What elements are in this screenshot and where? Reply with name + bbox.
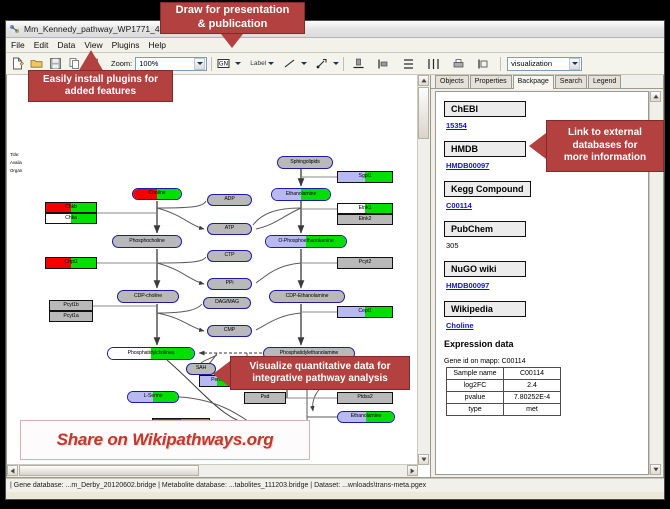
page-icon[interactable]: [476, 56, 491, 71]
label-dropdown-text: Label: [250, 60, 266, 67]
metabolite-node-o-phosphoethanolamine[interactable]: O-Phosphoethanolamine: [265, 235, 347, 248]
pathway-availability-label: Availa: [10, 160, 22, 165]
expression-data-table: Sample name C00114 log2FC 2.4 pvalue 7.8…: [446, 367, 561, 416]
node-label: Psd: [261, 395, 270, 400]
metabolite-node-ppi[interactable]: PPi: [207, 278, 252, 290]
visualization-combo[interactable]: visualization: [507, 57, 582, 71]
gene-node-ptdss2[interactable]: Ptdss2: [337, 392, 393, 404]
expression-data-title: Expression data: [444, 339, 648, 349]
menu-item-data[interactable]: Data: [57, 40, 75, 50]
backpage-value-pubchem: 305: [446, 241, 648, 250]
cell-label-pvalue: pvalue: [447, 392, 504, 404]
callout-link-arrow: [529, 133, 546, 159]
node-label: L-Serine: [144, 394, 163, 399]
tab-properties[interactable]: Properties: [470, 75, 512, 88]
callout-plugins-line1: Easily install plugins for: [43, 74, 158, 87]
datanode-icon[interactable]: GN: [216, 56, 231, 71]
node-label: Phosphatidylcholines: [128, 351, 175, 356]
backpage-link-kegg[interactable]: C00114: [446, 201, 648, 210]
toolbar-separator-2: [343, 57, 344, 71]
gene-node-cept1[interactable]: Cept1: [337, 306, 393, 318]
gene-node-sgpl1[interactable]: Sgpl1: [337, 171, 393, 183]
node-label: Ethanolamine: [286, 192, 317, 197]
gene-node-chka[interactable]: Chka: [45, 213, 97, 224]
metabolite-node-cdp-ethanolamine[interactable]: CDP-Ethanolamine: [269, 290, 345, 303]
node-label: Ptdss2: [357, 395, 372, 400]
scroll-left-icon[interactable]: [7, 465, 18, 476]
gene-node-chpt1[interactable]: Chpt1: [45, 257, 97, 269]
node-label: Pcyt1a: [63, 314, 78, 319]
gene-node-psd[interactable]: Psd: [244, 392, 286, 404]
distribute-icon[interactable]: [426, 56, 441, 71]
table-row: pvalue 7.80252E-4: [447, 392, 561, 404]
node-label: Ethanolamine: [351, 414, 382, 419]
node-label: Cept1: [358, 309, 371, 314]
node-label: DAG/MAG: [215, 300, 239, 305]
callout-link-line3: more information: [564, 152, 646, 165]
backpage-header-nugo: NuGO wiki: [444, 261, 526, 277]
menu-bar: File Edit Data View Plugins Help: [6, 38, 664, 53]
label-dropdown[interactable]: Label: [248, 60, 274, 67]
anchor-icon[interactable]: [314, 56, 329, 71]
metabolite-node-ctp[interactable]: CTP: [207, 250, 252, 262]
pathvisio-app-icon: [9, 24, 20, 35]
node-label: Chkb: [65, 205, 77, 210]
menu-item-view[interactable]: View: [84, 40, 102, 50]
metabolite-node-phosphatidylcholines[interactable]: Phosphatidylcholines: [107, 347, 195, 360]
table-row: log2FC 2.4: [447, 380, 561, 392]
gene-node-etnk2[interactable]: Etnk2: [337, 214, 393, 225]
cell-value-type: met: [504, 404, 561, 416]
backpage-header-pubchem: PubChem: [444, 221, 526, 237]
node-label: Choline: [149, 191, 166, 196]
zoom-label: Zoom:: [111, 59, 132, 68]
callout-plugins-line2: added features: [43, 86, 158, 99]
anchor-dropdown[interactable]: [314, 56, 339, 71]
line-dropdown[interactable]: [282, 56, 307, 71]
gene-node-chkb[interactable]: Chkb: [45, 202, 97, 213]
metabolite-node-atp[interactable]: ATP: [207, 223, 252, 235]
metabolite-node-sphingolipids[interactable]: Sphingolipids: [277, 156, 333, 169]
backpage-link-wikipedia[interactable]: Choline: [446, 321, 648, 330]
callout-link-line2: databases for: [564, 140, 646, 153]
gene-node-pcyt1a[interactable]: Pcyt1a: [49, 311, 93, 322]
metabolite-node-phosphocholine[interactable]: Phosphocholine: [112, 235, 182, 248]
callout-draw: Draw for presentation & publication: [160, 2, 305, 34]
node-label: Sgpl1: [359, 174, 372, 179]
pathway-canvas-panel[interactable]: Title: Availa Organ: [6, 75, 431, 478]
cell-value-log2fc: 2.4: [504, 380, 561, 392]
callout-draw-line2: & publication: [176, 18, 290, 32]
callout-plugins-arrow: [78, 50, 104, 72]
scroll-thumb-vertical[interactable]: [418, 87, 429, 139]
visualization-value: visualization: [511, 59, 552, 68]
line-icon[interactable]: [282, 56, 297, 71]
callout-link: Link to external databases for more info…: [546, 120, 664, 172]
node-label: CMP: [224, 328, 235, 333]
callout-visualize: Visualize quantitative data for integrat…: [230, 356, 410, 390]
side-scroll-up-icon[interactable]: [650, 91, 661, 102]
node-label: Sphingolipids: [290, 160, 320, 165]
toolbar-separator-3: [500, 57, 501, 71]
pathway-title-label: Title:: [10, 152, 19, 157]
tab-search[interactable]: Search: [555, 75, 587, 88]
metabolite-node-ethanolamine-right[interactable]: Ethanolamine: [337, 411, 395, 423]
stack-icon[interactable]: [401, 56, 416, 71]
metabolite-node-adp[interactable]: ADP: [207, 194, 252, 206]
new-file-icon[interactable]: [10, 56, 25, 71]
backpage-link-nugo[interactable]: HMDB00097: [446, 281, 648, 290]
callout-visualize-line1: Visualize quantitative data for: [250, 361, 391, 374]
gene-node-pcyt2[interactable]: Pcyt2: [337, 257, 393, 269]
gene-node-etnk1[interactable]: Etnk1: [337, 203, 393, 214]
cell-label-log2fc: log2FC: [447, 380, 504, 392]
canvas-vertical-scrollbar[interactable]: [417, 75, 430, 465]
node-label: Etnk2: [359, 217, 372, 222]
node-label: Phosphocholine: [129, 239, 165, 244]
status-bar: | Gene database: ...m_Derby_20120602.bri…: [6, 478, 664, 492]
align-bottom-icon[interactable]: [351, 56, 366, 71]
open-folder-icon[interactable]: [29, 56, 44, 71]
node-label: Chka: [65, 216, 77, 221]
node-label: CDP-Ethanolamine: [286, 294, 329, 299]
callout-visualize-arrow: [213, 361, 230, 387]
node-label: O-Phosphoethanolamine: [278, 239, 333, 244]
align-left-icon[interactable]: [376, 56, 391, 71]
pathway-canvas[interactable]: Title: Availa Organ: [7, 75, 430, 477]
gene-id-on-mapp: Gene id on mapp: C00114: [444, 358, 648, 365]
print-icon[interactable]: [451, 56, 466, 71]
status-bar-text: | Gene database: ...m_Derby_20120602.bri…: [10, 482, 426, 489]
callout-link-line1: Link to external: [564, 127, 646, 140]
node-label: Pcyt2: [359, 260, 371, 265]
node-label: ATP: [225, 226, 234, 231]
metabolite-node-cmp[interactable]: CMP: [207, 325, 252, 337]
save-icon[interactable]: [48, 56, 63, 71]
scroll-thumb-horizontal[interactable]: [19, 465, 199, 476]
tab-legend[interactable]: Legend: [588, 75, 621, 88]
datanode-dropdown[interactable]: GN: [216, 56, 241, 71]
node-label: SAH: [196, 366, 206, 371]
menu-item-plugins[interactable]: Plugins: [112, 40, 140, 50]
tab-backpage[interactable]: Backpage: [513, 75, 554, 89]
node-label: CTP: [224, 253, 234, 258]
svg-text:GN: GN: [219, 61, 228, 68]
callout-draw-line1: Draw for presentation: [176, 4, 290, 18]
metabolite-node-dagmag[interactable]: DAG/MAG: [203, 297, 251, 309]
cell-label-sample-name: Sample name: [447, 368, 504, 380]
node-label: Pcyt1b: [63, 303, 78, 308]
menu-item-edit[interactable]: Edit: [34, 40, 49, 50]
tab-objects[interactable]: Objects: [435, 75, 469, 88]
node-label: Etnk1: [359, 206, 372, 211]
node-label: ADP: [224, 197, 234, 202]
metabolite-node-choline-top[interactable]: Choline: [132, 188, 182, 200]
canvas-horizontal-scrollbar[interactable]: [7, 464, 418, 477]
gene-node-pcyt1b[interactable]: Pcyt1b: [49, 300, 93, 311]
callout-share: Share on Wikipathways.org: [20, 420, 310, 460]
scroll-down-icon[interactable]: [418, 454, 429, 465]
backpage-header-chebi: ChEBI: [444, 101, 526, 117]
scroll-right-icon[interactable]: [407, 465, 418, 476]
callout-share-text: Share on Wikipathways.org: [57, 430, 274, 450]
zoom-value: 100%: [139, 59, 158, 68]
metabolite-node-ethanolamine[interactable]: Ethanolamine: [271, 188, 331, 201]
side-panel-tabs: Objects Properties Backpage Search Legen…: [431, 75, 663, 89]
cell-value-pvalue: 7.80252E-4: [504, 392, 561, 404]
metabolite-node-l-serine-left[interactable]: L-Serine: [127, 391, 179, 403]
side-scroll-down-icon[interactable]: [650, 464, 661, 475]
title-bar: Mm_Kennedy_pathway_WP1771_45176.gpml: [6, 21, 664, 38]
menu-item-file[interactable]: File: [11, 40, 25, 50]
pathway-organism-label: Organ: [10, 168, 22, 173]
node-label: Chpt1: [64, 260, 77, 265]
table-row: Sample name C00114: [447, 368, 561, 380]
node-label: CDP-choline: [134, 294, 162, 299]
cell-value-sample-name: C00114: [504, 368, 561, 380]
cell-label-type: type: [447, 404, 504, 416]
node-label: PPi: [226, 281, 234, 286]
backpage-header-kegg: Kegg Compound: [444, 181, 531, 197]
chevron-down-icon[interactable]: [194, 58, 205, 70]
callout-draw-arrow: [221, 34, 243, 48]
menu-item-help[interactable]: Help: [149, 40, 166, 50]
backpage-header-hmdb: HMDB: [444, 141, 526, 157]
visualization-chevron-down-icon[interactable]: [569, 58, 580, 70]
table-row: type met: [447, 404, 561, 416]
backpage-header-wikipedia: Wikipedia: [444, 301, 526, 317]
callout-visualize-line2: integrative pathway analysis: [250, 373, 391, 386]
toolbar-separator: [211, 57, 212, 71]
metabolite-node-cdp-choline[interactable]: CDP-choline: [117, 290, 179, 303]
metabolite-node-sah[interactable]: SAH: [186, 363, 216, 375]
callout-plugins: Easily install plugins for added feature…: [28, 70, 173, 102]
zoom-combo[interactable]: 100%: [135, 57, 207, 71]
scroll-up-icon[interactable]: [418, 75, 429, 86]
